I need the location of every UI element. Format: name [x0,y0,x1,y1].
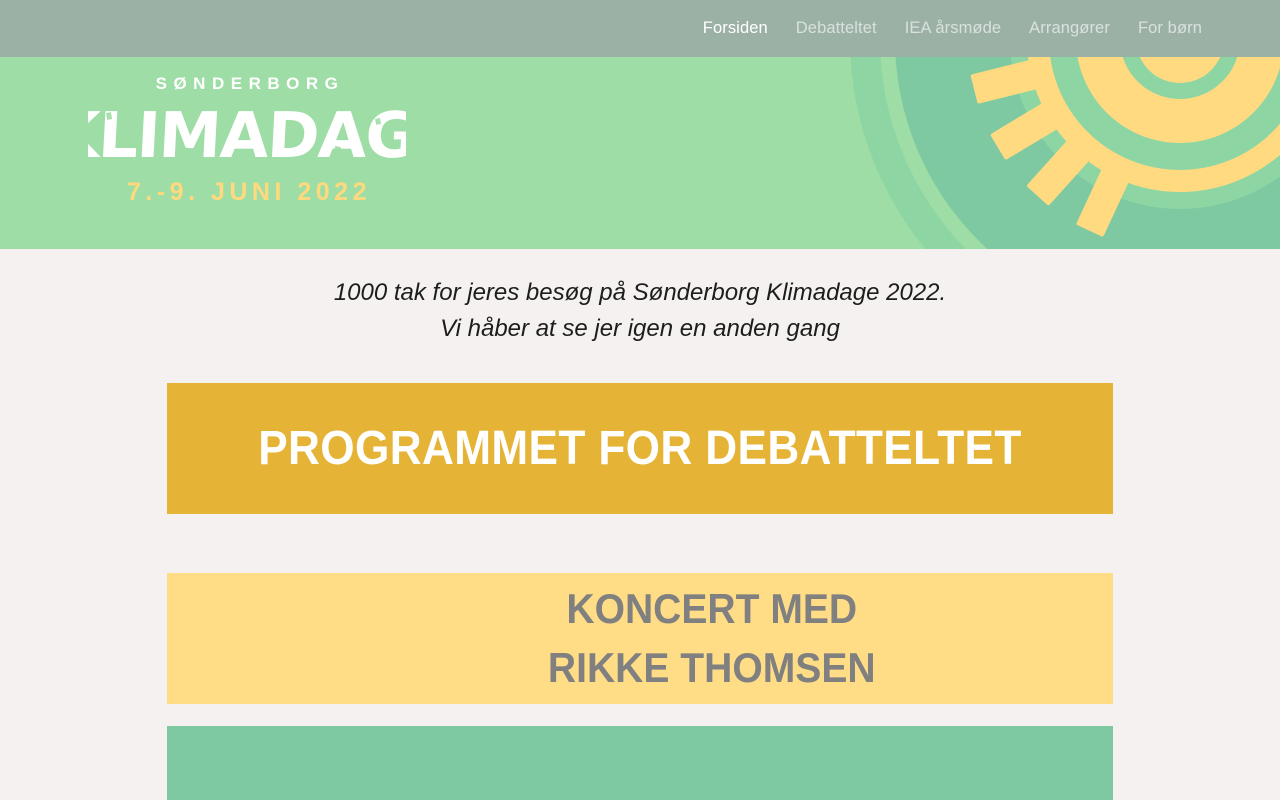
main-navigation: Forsiden Debatteltet IEA årsmøde Arrangø… [0,0,1280,57]
intro-message: 1000 tak for jeres besøg på Sønderborg K… [0,249,1280,348]
banner-programmet-title: PROGRAMMET FOR DEBATTELTET [258,421,1022,476]
main-content: 1000 tak for jeres besøg på Sønderborg K… [0,249,1280,800]
banner-green[interactable] [167,726,1113,800]
hero-banner: SØNDERBORG KLIMADAGE 7.-9. JUNI 2022 [0,57,1280,249]
logo-wordmark: KLIMADAGE [82,99,412,171]
banner-koncert[interactable]: KONCERT MED RIKKE THOMSEN [167,573,1113,704]
intro-line-2: Vi håber at se jer igen en anden gang [0,311,1280,347]
banner-area: PROGRAMMET FOR DEBATTELTET KONCERT MED R… [0,383,1280,800]
nav-link-for-born[interactable]: For børn [1138,19,1202,37]
svg-text:KLIMADAGE: KLIMADAGE [88,99,406,171]
nav-list: Forsiden Debatteltet IEA årsmøde Arrangø… [703,19,1202,38]
logo-top-text: SØNDERBORG [82,75,412,92]
nav-item-debatteltet[interactable]: Debatteltet [796,19,877,38]
logo-date-text: 7.-9. JUNI 2022 [82,180,412,205]
banner-programmet[interactable]: PROGRAMMET FOR DEBATTELTET [167,383,1113,514]
nav-item-for-born[interactable]: For børn [1138,19,1202,38]
banner-koncert-title-line1: KONCERT MED [548,579,876,639]
nav-link-forsiden[interactable]: Forsiden [703,19,768,37]
nav-item-arrangorer[interactable]: Arrangører [1029,19,1110,38]
nav-link-arrangorer[interactable]: Arrangører [1029,19,1110,37]
intro-line-1: 1000 tak for jeres besøg på Sønderborg K… [0,275,1280,311]
nav-link-iea-arsmode[interactable]: IEA årsmøde [905,19,1001,37]
banner-koncert-title: KONCERT MED RIKKE THOMSEN [404,579,876,698]
banner-koncert-title-line2: RIKKE THOMSEN [548,638,876,698]
nav-link-debatteltet[interactable]: Debatteltet [796,19,877,37]
nav-item-iea-arsmode[interactable]: IEA årsmøde [905,19,1001,38]
nav-item-forsiden[interactable]: Forsiden [703,19,768,38]
site-logo[interactable]: SØNDERBORG KLIMADAGE 7.-9. JUNI 2022 [82,75,412,205]
